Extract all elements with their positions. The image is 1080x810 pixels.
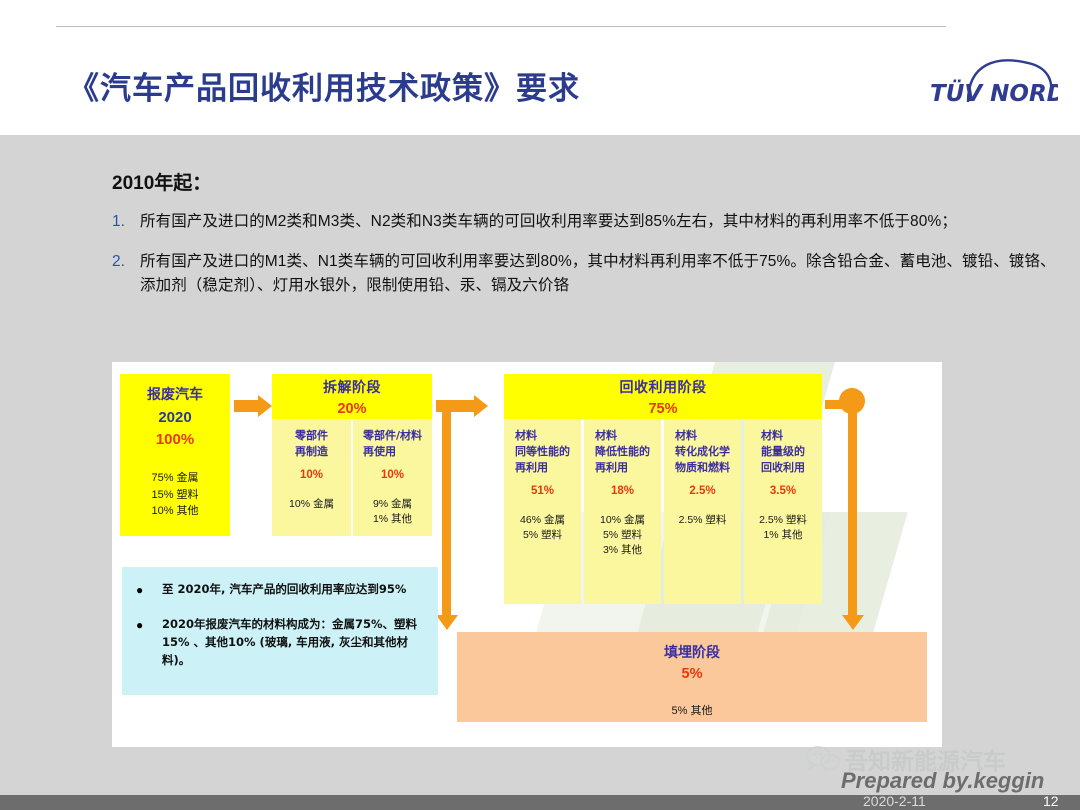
node-details: 9% 金属 1% 其他 (373, 497, 412, 527)
footer-date: 2020-2-11 (863, 793, 926, 809)
node-percent: 10% (381, 469, 404, 481)
page-title: 《汽车产品回收利用技术政策》要求 (68, 63, 580, 108)
label-line: 再使用 (363, 444, 422, 460)
list-item-text: 所有国产及进口的M2类和M3类、N2类和N3类车辆的可回收利用率要达到85%左右… (140, 210, 957, 234)
detail-line: 9% 金属 (373, 497, 412, 512)
diagram-node-reuse-same-performance: 材料 同等性能的 再利用 51% 46% 金属 5% 塑料 (504, 419, 581, 604)
detail-line: 15% 塑料 (151, 487, 198, 504)
diagram-node-remanufacture: 零部件 再制造 10% 10% 金属 (272, 419, 351, 536)
section-kicker: 2010年起： (112, 168, 211, 195)
bullet-dot-icon: ● (132, 616, 162, 669)
label-line: 回收利用 (761, 460, 805, 476)
node-details: 10% 金属 5% 塑料 3% 其他 (600, 513, 645, 559)
node-title: 报废汽车 (147, 384, 203, 404)
node-details: 2.5% 塑料 1% 其他 (759, 513, 807, 543)
label-line: 零部件/材料 (363, 428, 422, 444)
arrow-head-icon (258, 395, 272, 417)
list-item-number: 1. (112, 210, 140, 234)
diagram-node-chemical-conversion: 材料 转化成化学 物质和燃料 2.5% 2.5% 塑料 (664, 419, 741, 604)
svg-text:TÜV NORD: TÜV NORD (930, 79, 1058, 107)
label-line: 再利用 (515, 460, 570, 476)
node-percent: 100% (156, 431, 194, 448)
note-text: 2020年报废汽车的材料构成为：金属75%、塑料15% 、其他10% (玻璃, … (162, 616, 426, 669)
list-item: 1. 所有国产及进口的M2类和M3类、N2类和N3类车辆的可回收利用率要达到85… (112, 210, 1062, 234)
bullet-dot-icon: ● (132, 581, 162, 599)
node-percent: 20% (337, 401, 366, 417)
node-details: 75% 金属 15% 塑料 10% 其他 (151, 470, 198, 520)
slide-header: 《汽车产品回收利用技术政策》要求 TÜV NORD (0, 0, 1080, 135)
node-percent: 2.5% (689, 485, 715, 497)
detail-line: 1% 其他 (373, 512, 412, 527)
label-line: 材料 (595, 428, 650, 444)
node-percent: 5% (682, 666, 703, 682)
arrow-shaft-vertical (442, 400, 451, 615)
node-percent: 18% (611, 485, 634, 497)
label-line: 能量级的 (761, 444, 805, 460)
node-label: 材料 转化成化学 物质和燃料 (675, 428, 730, 476)
label-line: 再利用 (595, 460, 650, 476)
detail-line: 5% 塑料 (520, 528, 565, 543)
detail-line: 2.5% 塑料 (759, 513, 807, 528)
header-divider (56, 26, 946, 27)
diagram-node-recovery-header: 回收利用阶段 75% (504, 374, 822, 419)
note-text: 至 2020年, 汽车产品的回收利用率应达到95% (162, 581, 406, 599)
node-percent: 75% (648, 401, 677, 417)
diagram-node-scrap-car: 报废汽车 2020 100% 75% 金属 15% 塑料 10% 其他 (120, 374, 230, 536)
watermark-prepared-by: Prepared by.keggin (841, 768, 1044, 794)
label-line: 材料 (515, 428, 570, 444)
node-percent: 10% (300, 469, 323, 481)
detail-line: 3% 其他 (600, 543, 645, 558)
detail-line: 10% 金属 (289, 497, 334, 512)
arrow-head-icon (842, 615, 864, 630)
node-label: 零部件 再制造 (295, 428, 328, 460)
diagram-node-energy-recovery: 材料 能量级的 回收利用 3.5% 2.5% 塑料 1% 其他 (744, 419, 822, 604)
node-label: 材料 能量级的 回收利用 (761, 428, 805, 476)
node-label: 材料 降低性能的 再利用 (595, 428, 650, 476)
bullet-list: 1. 所有国产及进口的M2类和M3类、N2类和N3类车辆的可回收利用率要达到85… (112, 210, 1062, 314)
detail-line: 10% 金属 (600, 513, 645, 528)
diagram-node-landfill: 填埋阶段 5% 5% 其他 (457, 632, 927, 722)
node-details: 2.5% 塑料 (679, 513, 727, 528)
diagram-node-dismantle-header: 拆解阶段 20% (272, 374, 432, 419)
detail-line: 5% 塑料 (600, 528, 645, 543)
label-line: 同等性能的 (515, 444, 570, 460)
node-details: 5% 其他 (672, 702, 713, 718)
diagram-node-reuse: 零部件/材料 再使用 10% 9% 金属 1% 其他 (353, 419, 432, 536)
arrow-head-icon (474, 395, 488, 417)
node-percent: 3.5% (770, 485, 796, 497)
label-line: 转化成化学 (675, 444, 730, 460)
diagram-node-reuse-lower-performance: 材料 降低性能的 再利用 18% 10% 金属 5% 塑料 3% 其他 (584, 419, 661, 604)
node-details: 10% 金属 (289, 497, 334, 512)
node-percent: 51% (531, 485, 554, 497)
node-year: 2020 (158, 409, 191, 426)
node-title: 回收利用阶段 (620, 377, 707, 397)
node-label: 材料 同等性能的 再利用 (515, 428, 570, 476)
list-item: 2. 所有国产及进口的M1类、N1类车辆的可回收利用率要达到80%，其中材料再利… (112, 250, 1062, 298)
node-label: 零部件/材料 再使用 (363, 428, 422, 460)
detail-line: 1% 其他 (759, 528, 807, 543)
tuv-nord-logo: TÜV NORD (928, 52, 1058, 114)
node-details: 46% 金属 5% 塑料 (520, 513, 565, 543)
arrow-shaft (234, 400, 258, 412)
detail-line: 10% 其他 (151, 503, 198, 520)
detail-line: 46% 金属 (520, 513, 565, 528)
arrow-head-icon (436, 615, 458, 630)
label-line: 材料 (675, 428, 730, 444)
footer-page-number: 12 (1043, 793, 1059, 809)
label-line: 降低性能的 (595, 444, 650, 460)
label-line: 再制造 (295, 444, 328, 460)
note-item: ● 至 2020年, 汽车产品的回收利用率应达到95% (132, 581, 426, 599)
recycling-flow-diagram: 报废汽车 2020 100% 75% 金属 15% 塑料 10% 其他 拆解阶段… (112, 362, 942, 747)
list-item-number: 2. (112, 250, 140, 298)
diagram-notes-box: ● 至 2020年, 汽车产品的回收利用率应达到95% ● 2020年报废汽车的… (122, 567, 438, 695)
list-item-text: 所有国产及进口的M1类、N1类车辆的可回收利用率要达到80%，其中材料再利用率不… (140, 250, 1062, 298)
detail-line: 75% 金属 (151, 470, 198, 487)
label-line: 零部件 (295, 428, 328, 444)
node-title: 填埋阶段 (664, 642, 720, 662)
node-title: 拆解阶段 (323, 377, 381, 397)
label-line: 材料 (761, 428, 805, 444)
wechat-icon (806, 745, 840, 771)
detail-line: 2.5% 塑料 (679, 513, 727, 528)
note-item: ● 2020年报废汽车的材料构成为：金属75%、塑料15% 、其他10% (玻璃… (132, 616, 426, 669)
arrow-shaft-vertical (848, 407, 857, 615)
label-line: 物质和燃料 (675, 460, 730, 476)
